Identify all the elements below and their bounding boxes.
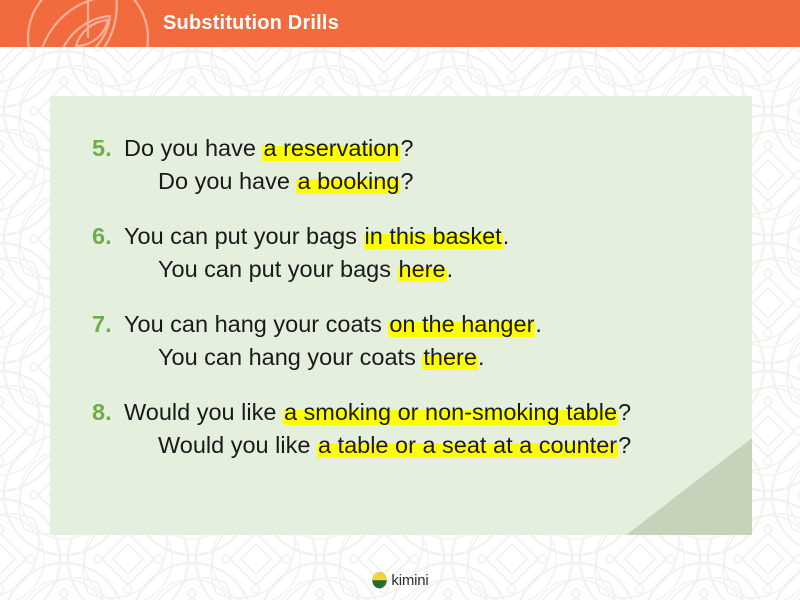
drill-highlight: in this basket [364,223,503,249]
drill-number: 7. [92,308,126,341]
drill-line-primary: 6. You can put your bags in this basket. [50,220,752,253]
drill-highlight: here [398,256,447,282]
drill-text-before: You can put your bags [158,256,398,282]
drill-text-after: . [503,223,510,249]
page-title: Substitution Drills [163,0,339,47]
drill-line-primary: 8. Would you like a smoking or non-smoki… [50,396,752,429]
drill-item: 6. You can put your bags in this basket.… [50,220,752,286]
drill-list: 5. Do you have a reservation? Do you hav… [50,96,752,462]
footer-brand-name: kimini [391,573,428,588]
drill-highlight: a booking [296,168,400,194]
drill-text-after: ? [400,135,413,161]
drill-item: 8. Would you like a smoking or non-smoki… [50,396,752,462]
drill-text-before: You can hang your coats [158,344,422,370]
drill-text-after: . [535,311,542,337]
drill-line-primary: 7. You can hang your coats on the hanger… [50,308,752,341]
drill-text-before: Do you have [124,135,262,161]
drill-text-before: Would you like [158,432,317,458]
drill-text-after: ? [618,432,631,458]
content-panel: 5. Do you have a reservation? Do you hav… [50,96,752,535]
drill-number: 6. [92,220,126,253]
header-bar: Substitution Drills [0,0,800,47]
drill-text-after: ? [618,399,631,425]
drill-text-after: . [447,256,454,282]
kimini-leaf-icon [371,571,388,590]
drill-item: 5. Do you have a reservation? Do you hav… [50,132,752,198]
drill-line-secondary: Would you like a table or a seat at a co… [50,429,752,462]
drill-line-secondary: Do you have a booking? [50,165,752,198]
drill-item: 7. You can hang your coats on the hanger… [50,308,752,374]
drill-number: 5. [92,132,126,165]
drill-number: 8. [92,396,126,429]
footer-brand: kimini [0,565,800,595]
drill-text-before: You can hang your coats [124,311,388,337]
drill-line-primary: 5. Do you have a reservation? [50,132,752,165]
drill-text-before: Would you like [124,399,283,425]
drill-highlight: on the hanger [388,311,535,337]
drill-highlight: there [422,344,478,370]
drill-text-before: Do you have [158,168,296,194]
drill-highlight: a table or a seat at a counter [317,432,618,458]
drill-line-secondary: You can hang your coats there. [50,341,752,374]
leaf-swirl-logo-icon [18,0,158,47]
drill-highlight: a smoking or non-smoking table [283,399,618,425]
drill-text-after: . [478,344,485,370]
drill-line-secondary: You can put your bags here. [50,253,752,286]
drill-text-after: ? [400,168,413,194]
drill-highlight: a reservation [262,135,400,161]
drill-text-before: You can put your bags [124,223,364,249]
